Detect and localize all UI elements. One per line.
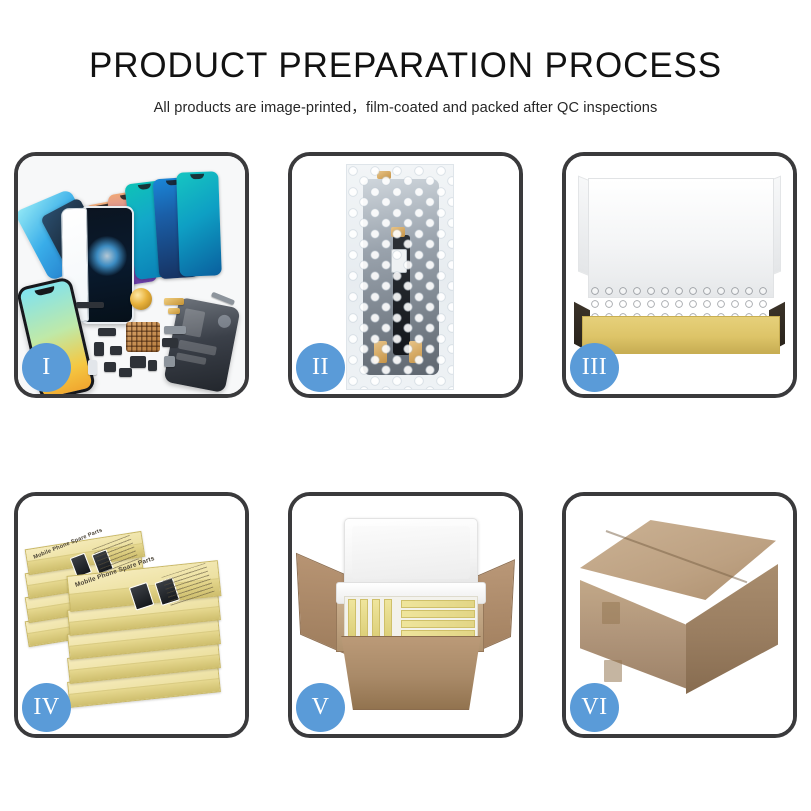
tape-tab-top — [377, 171, 391, 179]
product-preparation-infographic: PRODUCT PREPARATION PROCESS All products… — [0, 0, 811, 811]
bubble-wrapped-contents — [590, 286, 772, 320]
page-title: PRODUCT PREPARATION PROCESS — [0, 48, 811, 85]
chip-grid-component — [126, 322, 160, 352]
bubble-wrap-bag — [346, 164, 454, 390]
tape-tab-mid — [391, 227, 405, 237]
foam-box-lid — [344, 518, 478, 590]
step-badge-1: I — [22, 343, 71, 392]
step-badge-5: V — [296, 683, 345, 732]
step-panel-2: II — [288, 152, 523, 398]
step-panel-3: III — [562, 152, 797, 398]
step-badge-4: IV — [22, 683, 71, 732]
gold-component-icon — [130, 288, 152, 310]
box-lid — [588, 178, 774, 298]
steps-grid: I II — [14, 152, 797, 738]
tape-tab-left — [374, 341, 387, 363]
step-panel-6: VI — [562, 492, 797, 738]
connector — [391, 249, 407, 273]
tape-tab-right — [409, 341, 422, 363]
step-panel-5: V — [288, 492, 523, 738]
carton-front-wall — [328, 636, 494, 710]
page-subtitle: All products are image-printed，film-coat… — [0, 96, 811, 117]
phone-screen-teal — [176, 171, 222, 276]
step-badge-6: VI — [570, 683, 619, 732]
carton-tape-upper — [602, 602, 620, 624]
box-base — [582, 316, 780, 354]
packed-yellow-boxes — [344, 596, 478, 640]
carton-tape-lower — [604, 660, 622, 682]
step-badge-3: III — [570, 343, 619, 392]
header: PRODUCT PREPARATION PROCESS All products… — [0, 0, 811, 117]
step-badge-2: II — [296, 343, 345, 392]
step-panel-4: Mobile Phone Spare Parts Mobile Phone Sp… — [14, 492, 249, 738]
step-panel-1: I — [14, 152, 249, 398]
